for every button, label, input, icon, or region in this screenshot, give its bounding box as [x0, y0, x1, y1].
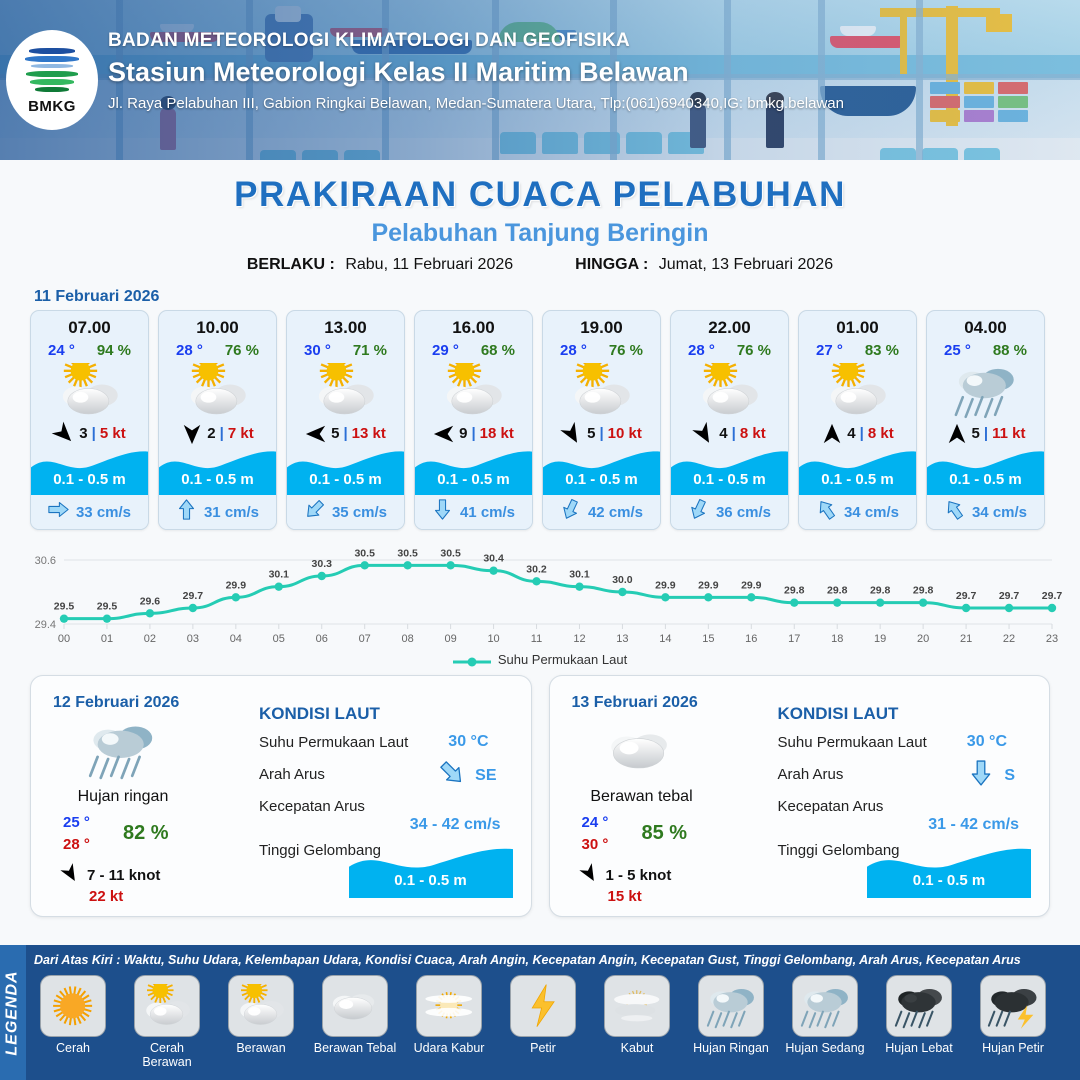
day-wave-height: 0.1 - 0.5 m — [867, 872, 1031, 889]
valid-from-label: BERLAKU : — [247, 256, 335, 273]
card-separator: | — [220, 425, 224, 442]
sea-row-label-current-speed: Kecepatan Arus — [259, 798, 365, 815]
sun-cloud-icon — [134, 975, 200, 1037]
wind-direction-icon — [561, 423, 583, 443]
light-rain-icon — [698, 975, 764, 1037]
title-block: PRAKIRAAN CUACA PELABUHAN Pelabuhan Tanj… — [0, 160, 1080, 274]
forecast-card: 10.00 28 ° 76 % 2 | 7 kt — [158, 310, 277, 530]
legend-item: Berawan Tebal — [312, 975, 398, 1069]
sun-icon — [40, 975, 106, 1037]
card-humidity: 76 % — [609, 342, 643, 359]
rain-icon — [927, 359, 1044, 421]
wind-direction-icon — [61, 864, 80, 887]
legend-item-label: Cerah — [30, 1041, 116, 1055]
card-wave-height: 0.1 - 0.5 m — [799, 471, 916, 488]
day-condition: Hujan ringan — [43, 788, 203, 806]
cloudy-icon — [322, 975, 388, 1037]
card-current-speed: 35 cm/s — [332, 504, 387, 521]
card-wind-row: 5 | 10 kt — [543, 421, 660, 449]
legend-item: Hujan Sedang — [782, 975, 868, 1069]
page-subtitle: Pelabuhan Tanjung Beringin — [0, 219, 1080, 248]
valid-from-value: Rabu, 11 Februari 2026 — [345, 256, 513, 273]
card-time: 22.00 — [671, 311, 788, 338]
card-wind-row: 4 | 8 kt — [671, 421, 788, 449]
card-wind-row: 5 | 13 kt — [287, 421, 404, 449]
svg-text:04: 04 — [230, 633, 242, 645]
card-separator: | — [471, 425, 475, 442]
card-temperature: 28 ° — [176, 342, 203, 359]
forecast-card: 22.00 28 ° 76 % 4 | 8 kt — [670, 310, 789, 530]
sea-row-value-current-speed: 34 - 42 cm/s — [410, 816, 501, 834]
day-temp-max: 28 ° — [63, 834, 90, 856]
card-wind-speed: 7 kt — [228, 425, 254, 442]
current-direction-icon — [560, 499, 581, 525]
svg-text:29.7: 29.7 — [183, 590, 204, 602]
svg-text:21: 21 — [960, 633, 972, 645]
card-humidity: 76 % — [225, 342, 259, 359]
sea-row-value-sst: 30 °C — [967, 733, 1007, 751]
bmkg-logo-text: BMKG — [28, 98, 76, 115]
day-summary-panel: 13 Februari 2026 Berawan tebal 24 ° 30 °… — [549, 675, 1051, 917]
card-temperature: 30 ° — [304, 342, 331, 359]
card-temp-humidity: 30 ° 71 % — [287, 338, 404, 359]
svg-text:11: 11 — [531, 633, 542, 645]
card-wind-speed: 8 kt — [868, 425, 894, 442]
page-title: PRAKIRAAN CUACA PELABUHAN — [0, 175, 1080, 215]
wind-direction-icon — [821, 423, 843, 443]
station-name: Stasiun Meteorologi Kelas II Maritim Bel… — [108, 57, 844, 88]
legend-icon-row: Cerah Cerah Berawan — [30, 975, 1070, 1069]
svg-text:12: 12 — [573, 633, 585, 645]
legend-item-label: Kabut — [594, 1041, 680, 1055]
svg-text:29.8: 29.8 — [913, 585, 934, 597]
bmkg-logo: BMKG — [6, 30, 98, 130]
svg-text:02: 02 — [144, 633, 156, 645]
svg-text:29.9: 29.9 — [226, 579, 247, 591]
legend-item: Hujan Lebat — [876, 975, 962, 1069]
sea-row-label-current-dir: Arah Arus — [778, 766, 844, 783]
sea-row-label-sst: Suhu Permukaan Laut — [259, 734, 408, 751]
card-wind-direction-value: 2 — [207, 425, 215, 442]
card-temp-humidity: 27 ° 83 % — [799, 338, 916, 359]
day-wind-speed: 7 - 11 knot — [87, 867, 160, 884]
svg-text:29.7: 29.7 — [999, 590, 1020, 602]
chart-legend-label: Suhu Permukaan Laut — [498, 652, 627, 667]
card-wind-row: 3 | 5 kt — [31, 421, 148, 449]
card-temp-humidity: 29 ° 68 % — [415, 338, 532, 359]
card-wave-band: 0.1 - 0.5 m — [287, 449, 404, 495]
svg-text:30.6: 30.6 — [35, 555, 56, 567]
hourly-forecast-row: 07.00 24 ° 94 % 3 | 5 kt — [0, 310, 1080, 530]
card-wave-height: 0.1 - 0.5 m — [31, 471, 148, 488]
current-direction-text: SE — [475, 767, 496, 785]
card-wave-height: 0.1 - 0.5 m — [159, 471, 276, 488]
card-wave-band: 0.1 - 0.5 m — [159, 449, 276, 495]
legend-item: Udara Kabur — [406, 975, 492, 1069]
card-humidity: 88 % — [993, 342, 1027, 359]
current-direction-icon — [944, 499, 965, 525]
card-temperature: 28 ° — [560, 342, 587, 359]
svg-text:17: 17 — [788, 633, 800, 645]
svg-text:16: 16 — [745, 633, 757, 645]
legend-item: Kabut — [594, 975, 680, 1069]
current-direction-icon — [816, 499, 837, 525]
partly-cloudy-icon — [31, 359, 148, 421]
daily-forecast-row: 12 Februari 2026 Hujan ringan 25 ° 28 ° … — [0, 667, 1080, 917]
card-current-row: 35 cm/s — [287, 495, 404, 529]
card-wind-speed: 8 kt — [740, 425, 766, 442]
thunderstorm-icon — [980, 975, 1046, 1037]
heavy-rain-icon — [886, 975, 952, 1037]
card-current-row: 34 cm/s — [927, 495, 1044, 529]
legend-note: Dari Atas Kiri : Waktu, Suhu Udara, Kele… — [34, 953, 1074, 967]
card-wind-direction-value: 9 — [459, 425, 467, 442]
partly-cloudy-icon — [543, 359, 660, 421]
day-wind-speed: 1 - 5 knot — [606, 867, 672, 884]
card-current-speed: 41 cm/s — [460, 504, 515, 521]
valid-to-label: HINGGA : — [575, 256, 648, 273]
card-current-speed: 34 cm/s — [844, 504, 899, 521]
svg-text:29.5: 29.5 — [54, 601, 75, 613]
wind-direction-icon — [305, 423, 327, 443]
legend-footer: LEGENDA Dari Atas Kiri : Waktu, Suhu Uda… — [0, 945, 1080, 1080]
card-wind-direction-value: 4 — [847, 425, 855, 442]
card-current-row: 36 cm/s — [671, 495, 788, 529]
legend-item-label: Hujan Lebat — [876, 1041, 962, 1055]
card-wind-direction-value: 4 — [719, 425, 727, 442]
card-current-speed: 33 cm/s — [76, 504, 131, 521]
svg-text:29.9: 29.9 — [655, 579, 676, 591]
current-direction-icon — [432, 499, 453, 525]
card-separator: | — [92, 425, 96, 442]
page-header: BMKG BADAN METEOROLOGI KLIMATOLOGI DAN G… — [0, 0, 1080, 160]
valid-to: HINGGA : Jumat, 13 Februari 2026 — [575, 256, 833, 274]
sea-row-label-current-dir: Arah Arus — [259, 766, 325, 783]
forecast-card: 19.00 28 ° 76 % 5 | 10 kt — [542, 310, 661, 530]
svg-text:29.9: 29.9 — [741, 579, 762, 591]
svg-text:30.5: 30.5 — [397, 547, 418, 559]
card-current-speed: 36 cm/s — [716, 504, 771, 521]
card-wind-row: 2 | 7 kt — [159, 421, 276, 449]
card-time: 07.00 — [31, 311, 148, 338]
sea-row-label-current-speed: Kecepatan Arus — [778, 798, 884, 815]
wind-direction-icon — [693, 423, 715, 443]
day-temperatures: 24 ° 30 ° — [582, 812, 609, 856]
card-wave-height: 0.1 - 0.5 m — [671, 471, 788, 488]
day-humidity: 85 % — [642, 822, 688, 845]
forecast-card: 07.00 24 ° 94 % 3 | 5 kt — [30, 310, 149, 530]
card-temp-humidity: 28 ° 76 % — [159, 338, 276, 359]
card-humidity: 68 % — [481, 342, 515, 359]
card-time: 16.00 — [415, 311, 532, 338]
card-humidity: 71 % — [353, 342, 387, 359]
svg-text:29.8: 29.8 — [870, 585, 891, 597]
svg-text:29.5: 29.5 — [97, 601, 118, 613]
card-temp-humidity: 28 ° 76 % — [671, 338, 788, 359]
day-temp-min: 25 ° — [63, 812, 90, 834]
forecast-card: 16.00 29 ° 68 % 9 | 18 kt — [414, 310, 533, 530]
svg-text:19: 19 — [874, 633, 886, 645]
card-temperature: 27 ° — [816, 342, 843, 359]
validity-row: BERLAKU : Rabu, 11 Februari 2026 HINGGA … — [0, 256, 1080, 274]
card-wave-height: 0.1 - 0.5 m — [543, 471, 660, 488]
svg-text:29.8: 29.8 — [827, 585, 848, 597]
card-wind-speed: 13 kt — [352, 425, 386, 442]
card-wave-band: 0.1 - 0.5 m — [927, 449, 1044, 495]
svg-text:29.8: 29.8 — [784, 585, 805, 597]
day-wind-row: 1 - 5 knot — [580, 864, 672, 887]
chart-legend-marker-icon — [453, 655, 491, 665]
card-temperature: 29 ° — [432, 342, 459, 359]
legend-item-label: Berawan Tebal — [312, 1041, 398, 1055]
svg-text:30.2: 30.2 — [526, 563, 547, 575]
svg-text:18: 18 — [831, 633, 843, 645]
svg-text:30.0: 30.0 — [612, 574, 633, 586]
current-direction-icon — [304, 499, 325, 525]
card-wave-band: 0.1 - 0.5 m — [31, 449, 148, 495]
card-time: 10.00 — [159, 311, 276, 338]
haze-icon — [416, 975, 482, 1037]
current-direction-icon — [176, 499, 197, 525]
svg-text:30.4: 30.4 — [483, 553, 504, 565]
card-wave-height: 0.1 - 0.5 m — [287, 471, 404, 488]
svg-text:29.7: 29.7 — [956, 590, 977, 602]
card-temperature: 24 ° — [48, 342, 75, 359]
svg-text:13: 13 — [616, 633, 628, 645]
card-separator: | — [860, 425, 864, 442]
day-gust: 22 kt — [89, 888, 123, 905]
svg-text:06: 06 — [316, 633, 328, 645]
sea-row-value-wave: 0.1 - 0.5 m — [867, 846, 1031, 898]
legend-item-label: Hujan Ringan — [688, 1041, 774, 1055]
card-humidity: 83 % — [865, 342, 899, 359]
sea-row-value-current-dir: S — [968, 760, 1015, 791]
card-humidity: 94 % — [97, 342, 131, 359]
svg-text:20: 20 — [917, 633, 929, 645]
header-text-block: BADAN METEOROLOGI KLIMATOLOGI DAN GEOFIS… — [108, 30, 844, 112]
card-temp-humidity: 25 ° 88 % — [927, 338, 1044, 359]
sst-chart: 30.629.429.50029.50129.60229.70329.90430… — [12, 538, 1068, 650]
card-time: 01.00 — [799, 311, 916, 338]
card-current-row: 41 cm/s — [415, 495, 532, 529]
card-wind-speed: 5 kt — [100, 425, 126, 442]
sea-row-label-sst: Suhu Permukaan Laut — [778, 734, 927, 751]
wind-direction-icon — [946, 423, 968, 443]
day-date: 13 Februari 2026 — [572, 694, 698, 712]
forecast-card: 04.00 25 ° 88 % 5 | 11 kt 0.1 - 0.5 m 34… — [926, 310, 1045, 530]
svg-text:30.1: 30.1 — [569, 569, 590, 581]
legend-item-label: Hujan Sedang — [782, 1041, 868, 1055]
legend-item: Hujan Ringan — [688, 975, 774, 1069]
svg-text:30.5: 30.5 — [440, 547, 461, 559]
forecast-date-label: 11 Februari 2026 — [34, 288, 1080, 306]
cloudy-icon — [576, 714, 706, 786]
legend-item: Petir — [500, 975, 586, 1069]
day-temp-min: 24 ° — [582, 812, 609, 834]
card-time: 04.00 — [927, 311, 1044, 338]
card-wind-speed: 18 kt — [480, 425, 514, 442]
partly-cloudy-icon — [287, 359, 404, 421]
chart-legend: Suhu Permukaan Laut — [0, 652, 1080, 667]
day-gust: 15 kt — [608, 888, 642, 905]
sea-row-value-current-dir: SE — [439, 760, 496, 791]
day-temperatures: 25 ° 28 ° — [63, 812, 90, 856]
wind-direction-icon — [433, 423, 455, 443]
partly-cloudy-icon — [799, 359, 916, 421]
svg-text:30.3: 30.3 — [312, 558, 333, 570]
svg-text:30.5: 30.5 — [354, 547, 375, 559]
card-separator: | — [599, 425, 603, 442]
card-wind-row: 4 | 8 kt — [799, 421, 916, 449]
svg-text:00: 00 — [58, 633, 70, 645]
partly-cloudy-icon — [671, 359, 788, 421]
card-temperature: 25 ° — [944, 342, 971, 359]
forecast-card: 01.00 27 ° 83 % 4 | 8 kt — [798, 310, 917, 530]
card-time: 19.00 — [543, 311, 660, 338]
legend-item-label: Petir — [500, 1041, 586, 1055]
wind-direction-icon — [580, 864, 599, 887]
partly-cloudy-icon — [159, 359, 276, 421]
svg-text:10: 10 — [487, 633, 499, 645]
current-direction-icon — [48, 499, 69, 525]
station-address: Jl. Raya Pelabuhan III, Gabion Ringkai B… — [108, 95, 844, 112]
legend-item-label: Hujan Petir — [970, 1041, 1056, 1055]
sea-row-value-current-speed: 31 - 42 cm/s — [928, 816, 1019, 834]
card-current-row: 42 cm/s — [543, 495, 660, 529]
day-wave-height: 0.1 - 0.5 m — [349, 872, 513, 889]
valid-from: BERLAKU : Rabu, 11 Februari 2026 — [247, 256, 513, 274]
current-direction-text: S — [1004, 767, 1015, 785]
day-date: 12 Februari 2026 — [53, 694, 179, 712]
card-temp-humidity: 28 ° 76 % — [543, 338, 660, 359]
card-wave-band: 0.1 - 0.5 m — [543, 449, 660, 495]
card-wave-height: 0.1 - 0.5 m — [415, 471, 532, 488]
card-separator: | — [732, 425, 736, 442]
current-direction-icon — [968, 760, 994, 791]
sea-condition-title: KONDISI LAUT — [259, 704, 380, 724]
card-time: 13.00 — [287, 311, 404, 338]
svg-text:23: 23 — [1046, 633, 1058, 645]
partly-cloudy-icon — [228, 975, 294, 1037]
svg-text:29.6: 29.6 — [140, 595, 161, 607]
card-wind-direction-value: 5 — [972, 425, 980, 442]
svg-text:03: 03 — [187, 633, 199, 645]
legenda-side-text: LEGENDA — [4, 970, 22, 1055]
svg-text:29.7: 29.7 — [1042, 590, 1063, 602]
moderate-rain-icon — [792, 975, 858, 1037]
svg-text:22: 22 — [1003, 633, 1015, 645]
card-current-speed: 34 cm/s — [972, 504, 1027, 521]
sea-row-value-wave: 0.1 - 0.5 m — [349, 846, 513, 898]
day-wind-row: 7 - 11 knot — [61, 864, 160, 887]
card-wave-band: 0.1 - 0.5 m — [415, 449, 532, 495]
svg-text:09: 09 — [444, 633, 456, 645]
current-direction-icon — [439, 760, 465, 791]
card-current-row: 33 cm/s — [31, 495, 148, 529]
legend-item: Cerah Berawan — [124, 975, 210, 1069]
agency-name: BADAN METEOROLOGI KLIMATOLOGI DAN GEOFIS… — [108, 30, 844, 52]
card-wind-speed: 10 kt — [608, 425, 642, 442]
lightning-icon — [510, 975, 576, 1037]
card-temperature: 28 ° — [688, 342, 715, 359]
legend-item: Berawan — [218, 975, 304, 1069]
svg-text:07: 07 — [359, 633, 371, 645]
card-current-row: 34 cm/s — [799, 495, 916, 529]
card-wave-band: 0.1 - 0.5 m — [799, 449, 916, 495]
card-current-speed: 42 cm/s — [588, 504, 643, 521]
card-temp-humidity: 24 ° 94 % — [31, 338, 148, 359]
legend-item: Cerah — [30, 975, 116, 1069]
svg-text:30.1: 30.1 — [269, 569, 290, 581]
legend-item-label: Cerah Berawan — [124, 1041, 210, 1069]
sea-row-value-sst: 30 °C — [448, 733, 488, 751]
svg-text:01: 01 — [101, 633, 113, 645]
wind-direction-icon — [53, 423, 75, 443]
card-wind-direction-value: 3 — [79, 425, 87, 442]
card-wind-direction-value: 5 — [331, 425, 339, 442]
fog-icon — [604, 975, 670, 1037]
day-temp-max: 30 ° — [582, 834, 609, 856]
svg-text:29.9: 29.9 — [698, 579, 719, 591]
wind-direction-icon — [181, 423, 203, 443]
day-summary-panel: 12 Februari 2026 Hujan ringan 25 ° 28 ° … — [30, 675, 532, 917]
card-wind-row: 9 | 18 kt — [415, 421, 532, 449]
card-separator: | — [343, 425, 347, 442]
card-humidity: 76 % — [737, 342, 771, 359]
svg-text:29.4: 29.4 — [35, 619, 56, 631]
svg-text:05: 05 — [273, 633, 285, 645]
rain-icon — [57, 714, 187, 786]
sst-chart-svg: 30.629.429.50029.50129.60229.70329.90430… — [12, 538, 1068, 650]
valid-to-value: Jumat, 13 Februari 2026 — [659, 256, 833, 273]
sea-condition-title: KONDISI LAUT — [778, 704, 899, 724]
card-wind-row: 5 | 11 kt — [927, 421, 1044, 449]
card-wave-band: 0.1 - 0.5 m — [671, 449, 788, 495]
card-current-speed: 31 cm/s — [204, 504, 259, 521]
legenda-side-label: LEGENDA — [0, 945, 26, 1080]
card-wave-height: 0.1 - 0.5 m — [927, 471, 1044, 488]
card-wind-direction-value: 5 — [587, 425, 595, 442]
legend-item-label: Udara Kabur — [406, 1041, 492, 1055]
card-separator: | — [984, 425, 988, 442]
card-wind-speed: 11 kt — [992, 425, 1025, 442]
svg-text:14: 14 — [659, 633, 671, 645]
forecast-card: 13.00 30 ° 71 % 5 | 13 kt — [286, 310, 405, 530]
day-humidity: 82 % — [123, 822, 169, 845]
svg-text:08: 08 — [402, 633, 414, 645]
bmkg-logo-mark — [23, 46, 81, 96]
legend-item-label: Berawan — [218, 1041, 304, 1055]
card-current-row: 31 cm/s — [159, 495, 276, 529]
svg-text:15: 15 — [702, 633, 714, 645]
legend-item: Hujan Petir — [970, 975, 1056, 1069]
current-direction-icon — [688, 499, 709, 525]
partly-cloudy-icon — [415, 359, 532, 421]
day-condition: Berawan tebal — [562, 788, 722, 806]
